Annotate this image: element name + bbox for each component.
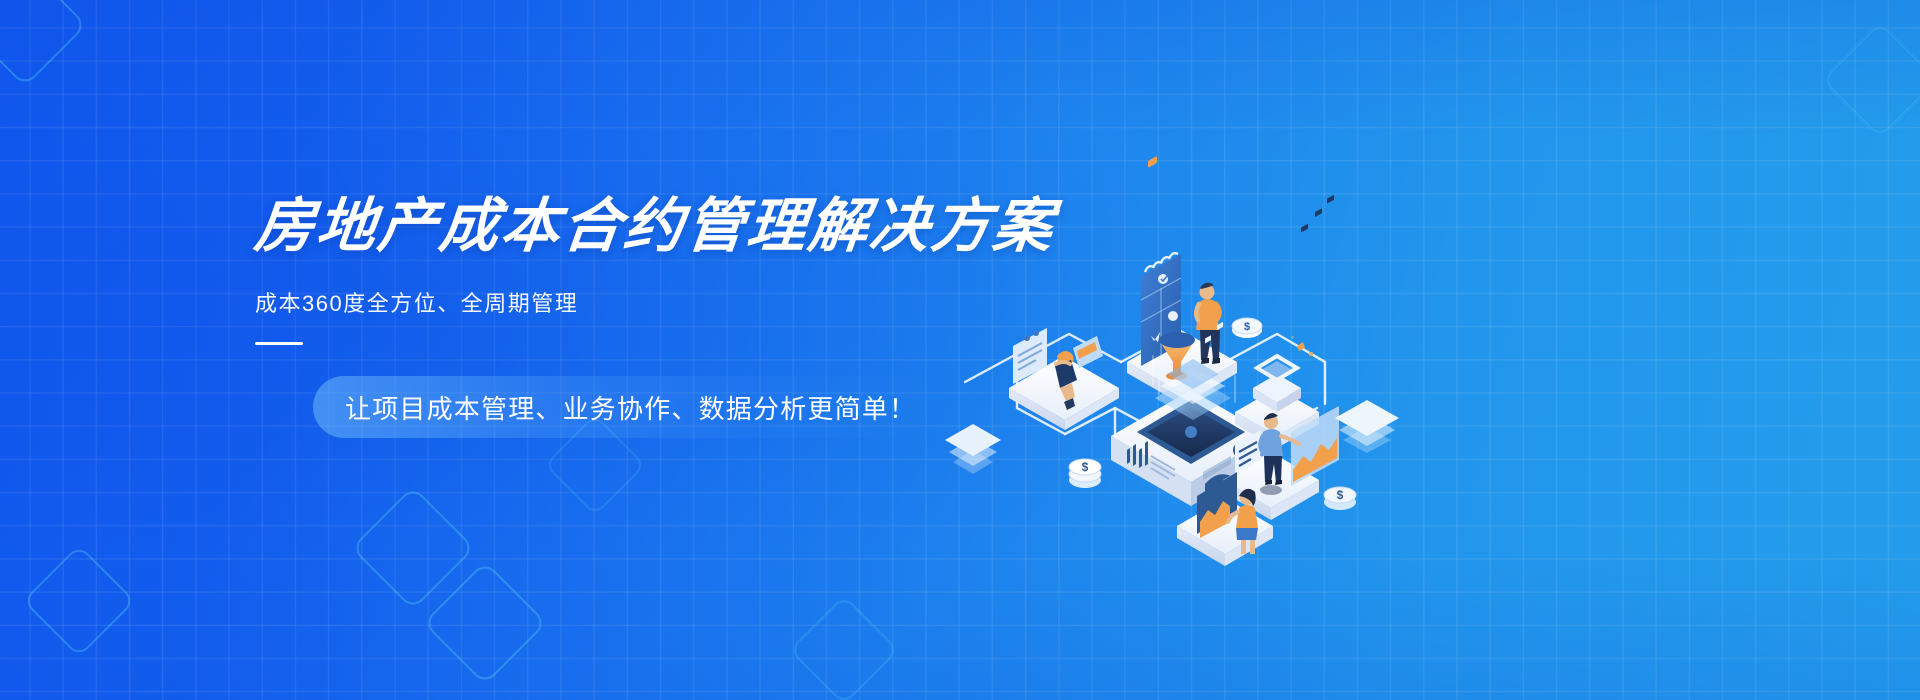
svg-text:$: $ [1082,460,1089,474]
tagline-text: 让项目成本管理、业务协作、数据分析更简单！ [345,389,916,426]
tagline-pill: 让项目成本管理、业务协作、数据分析更简单！ [313,376,946,438]
page-title: 房地产成本合约管理解决方案 [252,196,1019,258]
coin-stack-top: $ [1232,318,1262,338]
hero-subtitle: 成本360度全方位、全周期管理 [255,286,1015,318]
coin-stack-right: $ [1324,487,1356,510]
floating-platform-tile-right [1335,400,1399,453]
svg-text:$: $ [1337,488,1344,502]
svg-text:$: $ [1244,321,1250,333]
title-divider [255,342,303,345]
floating-platform-tile-left [945,424,1001,474]
hero-copy-block: 房地产成本合约管理解决方案 成本360度全方位、全周期管理 让项目成本管理、业务… [255,196,1015,345]
isometric-business-network-illustration: $ [905,150,1405,570]
hero-banner: 房地产成本合约管理解决方案 成本360度全方位、全周期管理 让项目成本管理、业务… [0,0,1920,700]
tablet-screen [1073,336,1103,368]
coin-stack-middle: $ [1069,459,1101,488]
